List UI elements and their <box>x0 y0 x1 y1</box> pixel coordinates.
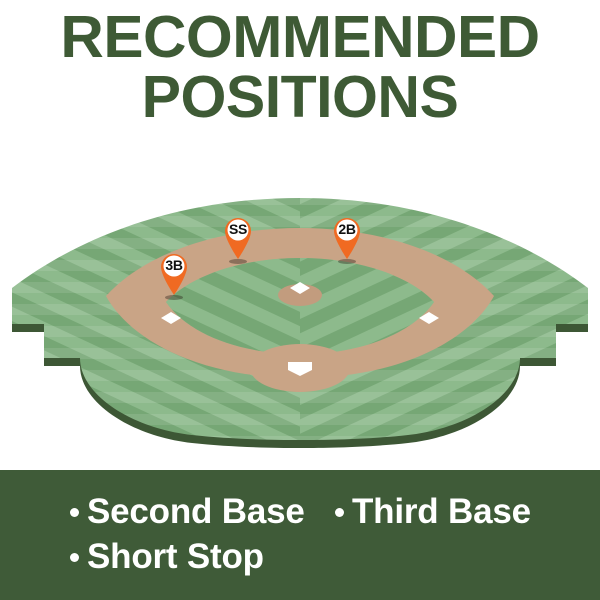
map-pin-icon <box>221 216 255 260</box>
bullet-icon <box>70 508 79 517</box>
list-item-third-base: Third Base <box>335 489 590 534</box>
field-grass <box>0 172 600 462</box>
position-marker-ss[interactable]: SS <box>221 216 255 264</box>
recommended-positions-infographic: RECOMMENDED POSITIONS <box>0 0 600 600</box>
baseball-field-diagram: SS 2B 3B <box>0 172 600 462</box>
bullet-icon <box>70 553 79 562</box>
list-item-label: Short Stop <box>87 537 264 577</box>
list-item-label: Third Base <box>352 492 531 532</box>
map-pin-icon <box>157 252 191 296</box>
page-title: RECOMMENDED POSITIONS <box>0 10 600 125</box>
position-marker-2b[interactable]: 2B <box>330 216 364 264</box>
positions-list: Second Base Third Base Short Stop <box>70 489 590 579</box>
bullet-icon <box>335 508 344 517</box>
list-item-short-stop: Short Stop <box>70 534 275 579</box>
list-item-second-base: Second Base <box>70 489 275 534</box>
position-marker-3b[interactable]: 3B <box>157 252 191 300</box>
list-item-label: Second Base <box>87 492 305 532</box>
title-line-2: POSITIONS <box>0 70 600 124</box>
title-line-1: RECOMMENDED <box>0 10 600 64</box>
positions-list-panel: Second Base Third Base Short Stop <box>0 470 600 600</box>
map-pin-icon <box>330 216 364 260</box>
field-illustration <box>0 172 600 462</box>
